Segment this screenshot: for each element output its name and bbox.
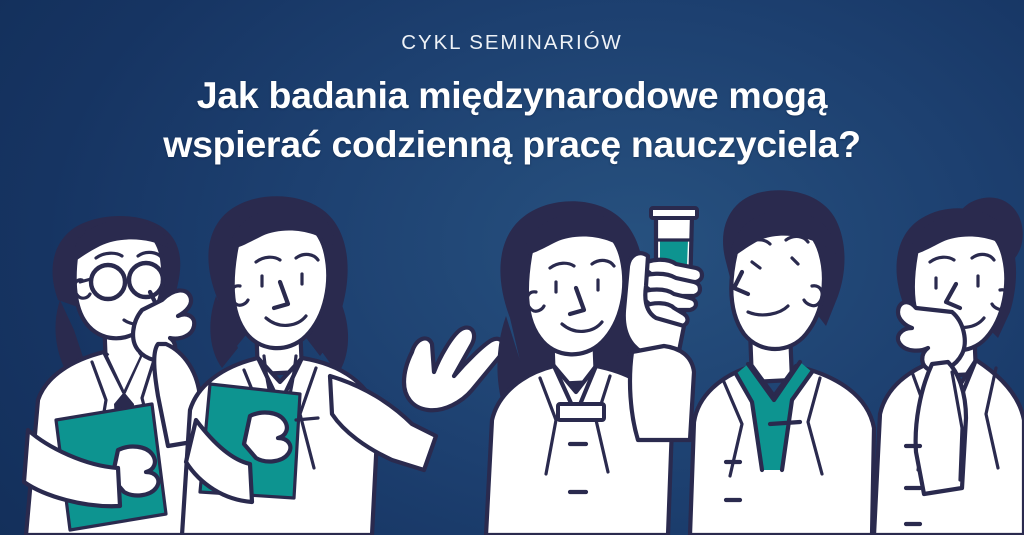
figure-man-with-glasses (24, 216, 204, 535)
figure-woman-thinking (874, 198, 1024, 535)
name-badge (558, 404, 604, 420)
scientists-illustration: .ink { fill:#2a2a4e; } .coat { fill:#fff… (0, 0, 1024, 535)
seminar-banner: .ink { fill:#2a2a4e; } .coat { fill:#fff… (0, 0, 1024, 535)
figure-man-with-test-tube (690, 190, 874, 535)
figure-woman-gesturing (182, 196, 504, 535)
